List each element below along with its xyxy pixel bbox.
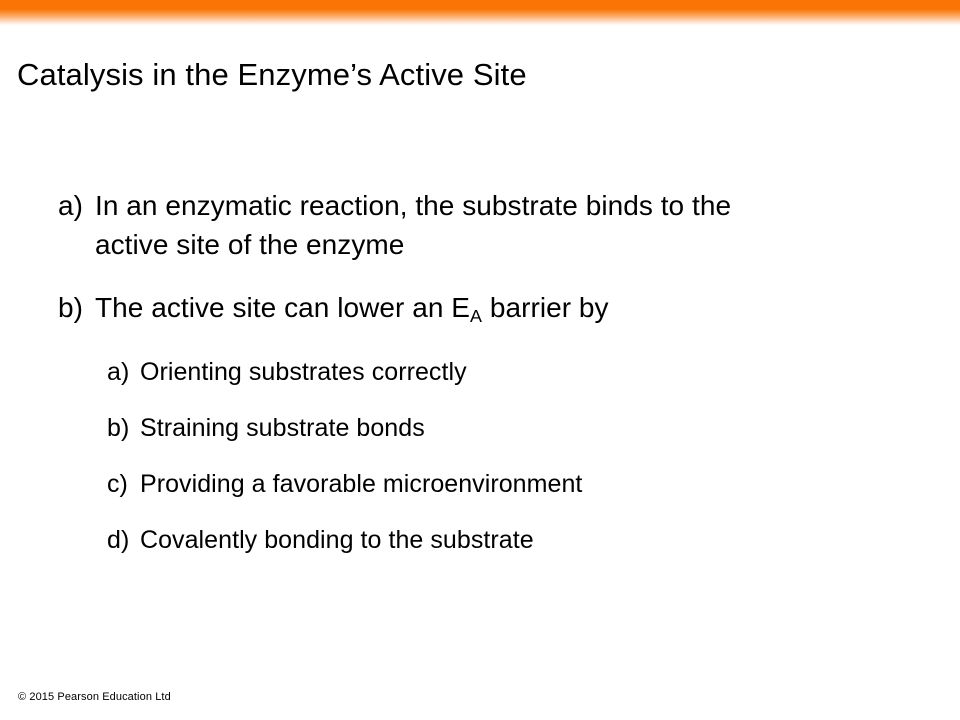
list-item-b-text: The active site can lower an EA barrier … <box>95 288 960 331</box>
activation-energy-phrase-after: barrier by <box>482 292 609 323</box>
orange-band-solid <box>0 0 960 9</box>
sub-list-item-b-text: Straining substrate bonds <box>140 411 960 445</box>
list-marker-b: b) <box>58 288 95 327</box>
orange-gradient-band <box>0 0 960 26</box>
sub-list-marker-d: d) <box>107 523 140 557</box>
sub-list-item-c-text: Providing a favorable microenvironment <box>140 467 960 501</box>
sub-list-item-a: a) Orienting substrates correctly <box>0 355 960 389</box>
list-item-a: a) In an enzymatic reaction, the substra… <box>0 186 960 264</box>
list-item-a-line2: active site of the enzyme <box>95 225 960 264</box>
sub-list-item-a-text: Orienting substrates correctly <box>140 355 960 389</box>
list-item-b: b) The active site can lower an EA barri… <box>0 288 960 331</box>
orange-band-fade <box>0 9 960 26</box>
sub-list-marker-a: a) <box>107 355 140 389</box>
sub-list-item-d: d) Covalently bonding to the substrate <box>0 523 960 557</box>
activation-energy-subscript: A <box>470 306 482 326</box>
sub-list-marker-c: c) <box>107 467 140 501</box>
activation-energy-phrase-before: The active site can lower an E <box>95 292 470 323</box>
page-title: Catalysis in the Enzyme’s Active Site <box>17 57 927 93</box>
copyright-notice: © 2015 Pearson Education Ltd <box>18 690 171 704</box>
sub-list-b: a) Orienting substrates correctly b) Str… <box>0 355 960 557</box>
sub-list-item-c: c) Providing a favorable microenvironmen… <box>0 467 960 501</box>
list-marker-a: a) <box>58 186 95 225</box>
slide-body-list: a) In an enzymatic reaction, the substra… <box>0 186 960 557</box>
list-item-a-line1: In an enzymatic reaction, the substrate … <box>95 186 960 225</box>
sub-list-item-b: b) Straining substrate bonds <box>0 411 960 445</box>
sub-list-marker-b: b) <box>107 411 140 445</box>
sub-list-item-d-text: Covalently bonding to the substrate <box>140 523 960 557</box>
